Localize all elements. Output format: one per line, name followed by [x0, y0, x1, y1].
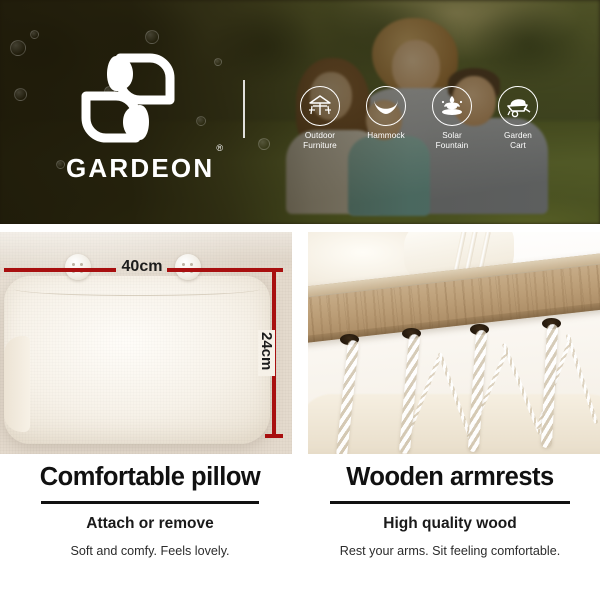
category-label-line2: Furniture [303, 141, 337, 150]
brand-banner: GARDEON® [0, 0, 600, 224]
category-label: Garden Cart [494, 131, 542, 150]
width-line-right [167, 268, 274, 272]
caption-pillow: Comfortable pillow Attach or remove Soft… [0, 462, 300, 558]
category-label-line1: Garden [504, 131, 532, 140]
caption-armrests: Wooden armrests High quality wood Rest y… [300, 462, 600, 558]
category-icon-row: Outdoor Furniture Hammock [296, 86, 542, 150]
category-label-line2: Cart [510, 141, 526, 150]
leaf-petal-logo-mark [72, 52, 184, 144]
pillow-button-icon [65, 254, 91, 280]
width-dimension-label: 40cm [118, 258, 166, 276]
hammock-icon [366, 86, 406, 126]
brand-wordmark: GARDEON® [66, 153, 212, 184]
category-label: Outdoor Furniture [296, 131, 344, 150]
category-label: Hammock [362, 131, 410, 141]
solar-fountain-icon [432, 86, 472, 126]
wooden-armrest-photo-panel [308, 232, 600, 454]
caption-body: Soft and comfy. Feels lovely. [0, 544, 300, 558]
pillow-seam [14, 282, 260, 296]
banner-divider [243, 80, 245, 138]
pillow-left-edge [4, 336, 30, 432]
garden-cart-icon [498, 86, 538, 126]
registered-trademark-icon: ® [216, 143, 223, 153]
brand-name-text: GARDEON [66, 153, 214, 183]
category-label: Solar Fountain [428, 131, 476, 150]
caption-title: Wooden armrests [300, 462, 600, 492]
outdoor-furniture-icon [300, 86, 340, 126]
height-dimension-label: 24cm [258, 330, 275, 376]
category-label-line1: Hammock [367, 131, 405, 140]
pillow-button-icon [175, 254, 201, 280]
caption-divider [41, 501, 259, 504]
category-outdoor-furniture[interactable]: Outdoor Furniture [296, 86, 344, 150]
category-label-line1: Solar [442, 131, 462, 140]
brand-logo[interactable]: GARDEON® [62, 52, 212, 184]
caption-title: Comfortable pillow [0, 462, 300, 492]
product-photo-panels: 40cm 24cm [0, 232, 600, 454]
feature-captions: Comfortable pillow Attach or remove Soft… [0, 462, 600, 600]
height-cap-bottom [265, 434, 283, 438]
category-label-line1: Outdoor [305, 131, 335, 140]
category-solar-fountain[interactable]: Solar Fountain [428, 86, 476, 150]
category-garden-cart[interactable]: Garden Cart [494, 86, 542, 150]
category-label-line2: Fountain [436, 141, 469, 150]
caption-body: Rest your arms. Sit feeling comfortable. [300, 544, 600, 558]
product-feature-page: GARDEON® [0, 0, 600, 600]
width-line-left [4, 268, 116, 272]
caption-subtitle: High quality wood [300, 515, 600, 533]
caption-subtitle: Attach or remove [0, 515, 300, 533]
category-hammock[interactable]: Hammock [362, 86, 410, 150]
caption-divider [330, 501, 570, 504]
pillow-product-image [4, 276, 270, 444]
pillow-texture [4, 276, 270, 444]
